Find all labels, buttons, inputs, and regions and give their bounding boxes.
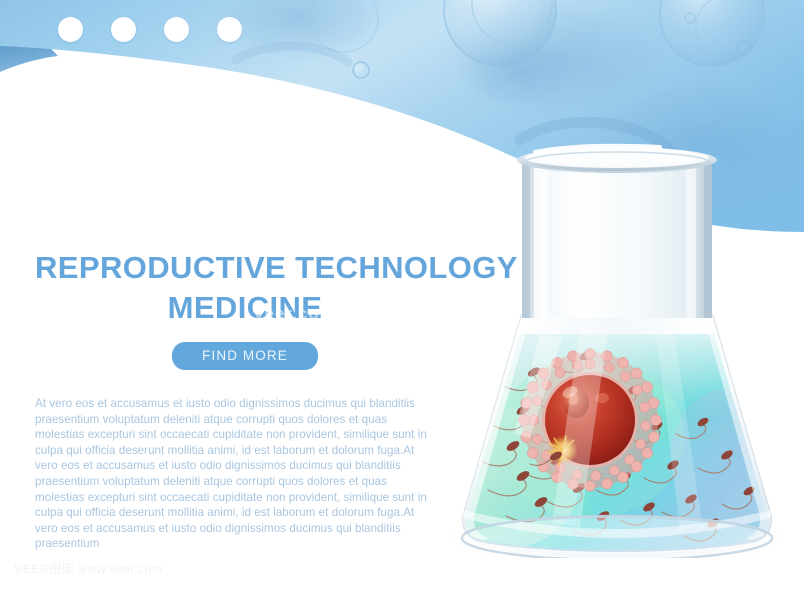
wave-left-accent — [0, 28, 58, 72]
page-title-line1: REPRODUCTIVE TECHNOLOGY — [35, 248, 495, 288]
carousel-dot-4[interactable] — [217, 17, 242, 42]
find-more-button[interactable]: FIND MORE — [172, 342, 318, 370]
stock-watermark: VEER图库 www.veer.com — [14, 560, 163, 577]
carousel-dot-3[interactable] — [164, 17, 189, 42]
cta-row: FIND MORE — [35, 342, 455, 370]
page-title-line2: MEDICINE — [35, 288, 455, 328]
body-paragraph: At vero eos et accusamus et iusto odio d… — [35, 396, 427, 552]
banner-root: REPRODUCTIVE TECHNOLOGY MEDICINE FIND MO… — [0, 0, 804, 590]
flask-neck — [522, 160, 712, 318]
carousel-dot-1[interactable] — [58, 17, 83, 42]
carousel-dots[interactable] — [58, 17, 242, 42]
hero-content: REPRODUCTIVE TECHNOLOGY MEDICINE FIND MO… — [35, 248, 495, 552]
carousel-dot-2[interactable] — [111, 17, 136, 42]
